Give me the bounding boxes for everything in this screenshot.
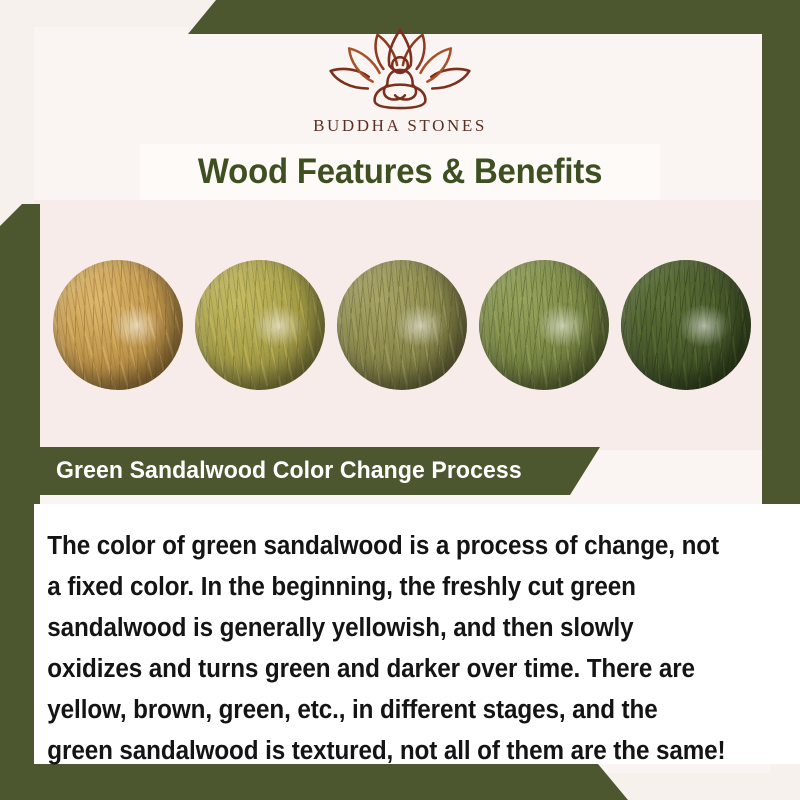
description-card: The color of green sandalwood is a proce… (34, 504, 800, 764)
bead-shading (479, 260, 609, 390)
bead-stage-1-yellow-tan (53, 260, 183, 390)
bead-stage-5-dark-forest-green (621, 260, 751, 390)
title-band: Wood Features & Benefits (140, 144, 660, 200)
page-title: Wood Features & Benefits (198, 152, 602, 192)
brand-name: BUDDHA STONES (313, 116, 487, 136)
poster-canvas: BUDDHA STONES Wood Features & Benefits G… (0, 0, 800, 800)
bead-shading (621, 260, 751, 390)
section-banner: Green Sandalwood Color Change Process (34, 447, 600, 495)
bead-shading (53, 260, 183, 390)
description-paragraph: The color of green sandalwood is a proce… (34, 504, 762, 772)
bead-stage-3-olive-brown (337, 260, 467, 390)
lotus-meditation-icon (316, 24, 484, 110)
bead-shading (337, 260, 467, 390)
bead-stage-4-moss-green (479, 260, 609, 390)
wood-bead-row (34, 200, 770, 450)
section-banner-label: Green Sandalwood Color Change Process (56, 457, 522, 485)
brand-header: BUDDHA STONES (0, 0, 800, 145)
bead-stage-2-yellow-green (195, 260, 325, 390)
bead-shading (195, 260, 325, 390)
